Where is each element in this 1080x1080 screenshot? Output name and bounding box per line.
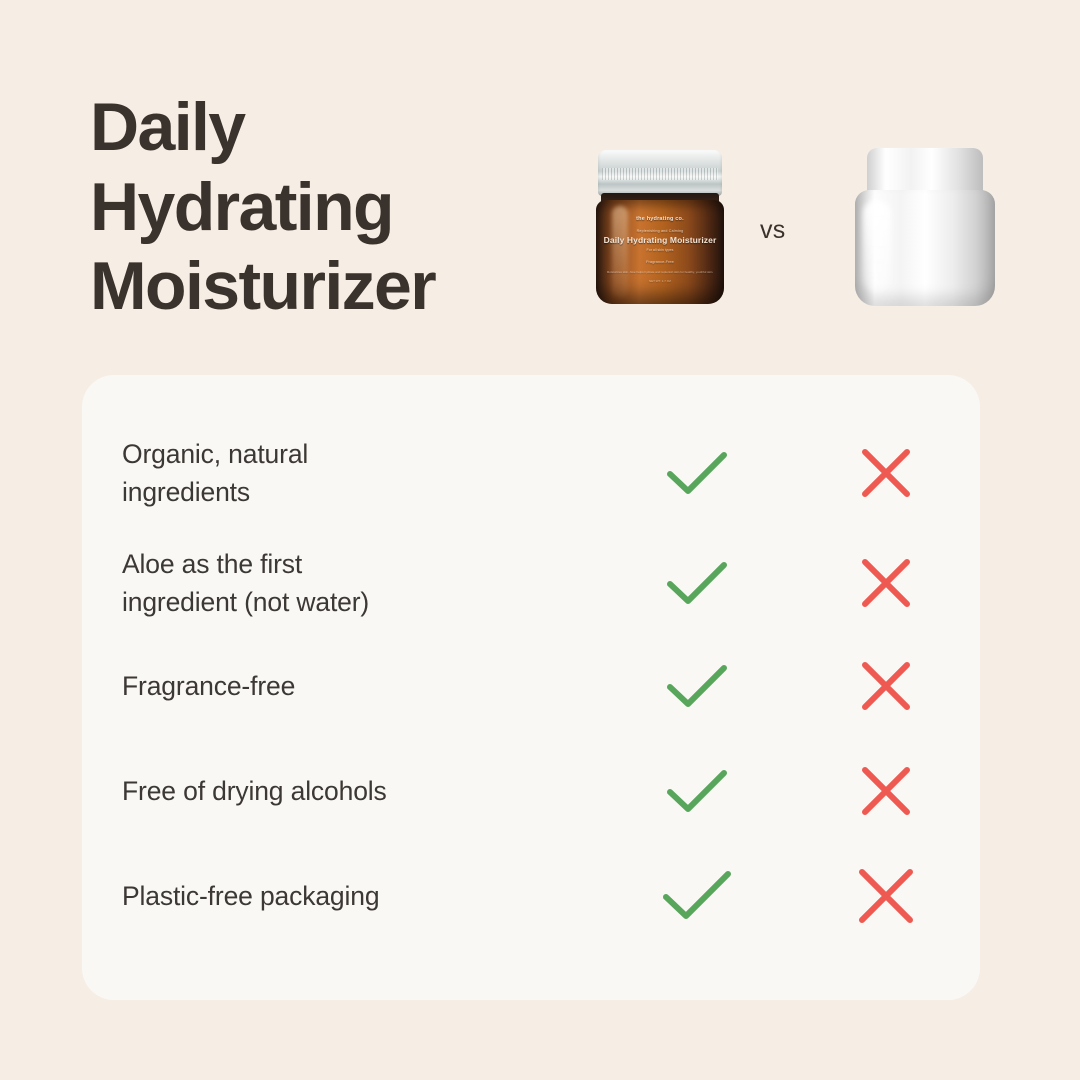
feature-label: Organic, natural ingredients [82, 435, 602, 512]
cross-icon [859, 446, 913, 500]
header: Daily Hydrating Moisturizer the hydratin… [0, 0, 1080, 360]
versus-label: vs [760, 216, 786, 245]
feature-label: Aloe as the first ingredient (not water) [82, 545, 602, 622]
comparison-row: Aloe as the first ingredient (not water) [82, 540, 980, 626]
ours-cell [602, 766, 791, 816]
jar-label-product: Daily Hydrating Moisturizer [596, 235, 724, 245]
page-title: Daily Hydrating Moisturizer [90, 88, 560, 327]
comparison-row: Plastic-free packaging [82, 865, 980, 927]
comparison-card: Organic, natural ingredients Aloe as the… [82, 375, 980, 1000]
comparison-row: Fragrance-free [82, 655, 980, 717]
jar-label-brand: the hydrating co. [596, 216, 724, 223]
comparison-row: Free of drying alcohols [82, 760, 980, 822]
jar-body-generic [855, 190, 995, 306]
jar-label-netweight: NET WT. 1.7 OZ [596, 279, 724, 283]
cross-icon [859, 764, 913, 818]
comparison-row: Organic, natural ingredients [82, 430, 980, 516]
check-icon [665, 448, 729, 498]
check-icon [665, 766, 729, 816]
ours-cell [602, 558, 791, 608]
check-icon [665, 558, 729, 608]
theirs-cell [791, 659, 980, 713]
feature-label: Plastic-free packaging [82, 877, 602, 915]
jar-label: the hydrating co. Replenishing and Calmi… [596, 216, 724, 283]
feature-label: Fragrance-free [82, 667, 602, 705]
feature-label: Free of drying alcohols [82, 772, 602, 810]
product-jar-ours: the hydrating co. Replenishing and Calmi… [590, 150, 730, 305]
ours-cell [602, 661, 791, 711]
cross-icon [859, 556, 913, 610]
cross-icon [856, 866, 916, 926]
check-icon [665, 661, 729, 711]
theirs-cell [791, 866, 980, 926]
jar-body: the hydrating co. Replenishing and Calmi… [596, 200, 724, 304]
jar-label-claim: Fragrance-Free [596, 259, 724, 264]
check-icon [661, 868, 733, 924]
jar-label-eyebrow: Replenishing and Calming [596, 229, 724, 233]
product-jar-theirs [855, 148, 995, 306]
cross-icon [859, 659, 913, 713]
ours-cell [602, 448, 791, 498]
theirs-cell [791, 764, 980, 818]
theirs-cell [791, 556, 980, 610]
jar-lid-icon [598, 150, 722, 196]
theirs-cell [791, 446, 980, 500]
jar-label-subtitle: For all skin types [596, 248, 724, 252]
ours-cell [602, 868, 791, 924]
jar-lid-icon-generic [867, 148, 983, 196]
product-comparison-visual: the hydrating co. Replenishing and Calmi… [570, 140, 1020, 320]
page-root: Daily Hydrating Moisturizer the hydratin… [0, 0, 1080, 1080]
jar-label-fineprint: Moisturizes skin. Aloe helps hydrate and… [596, 270, 724, 275]
